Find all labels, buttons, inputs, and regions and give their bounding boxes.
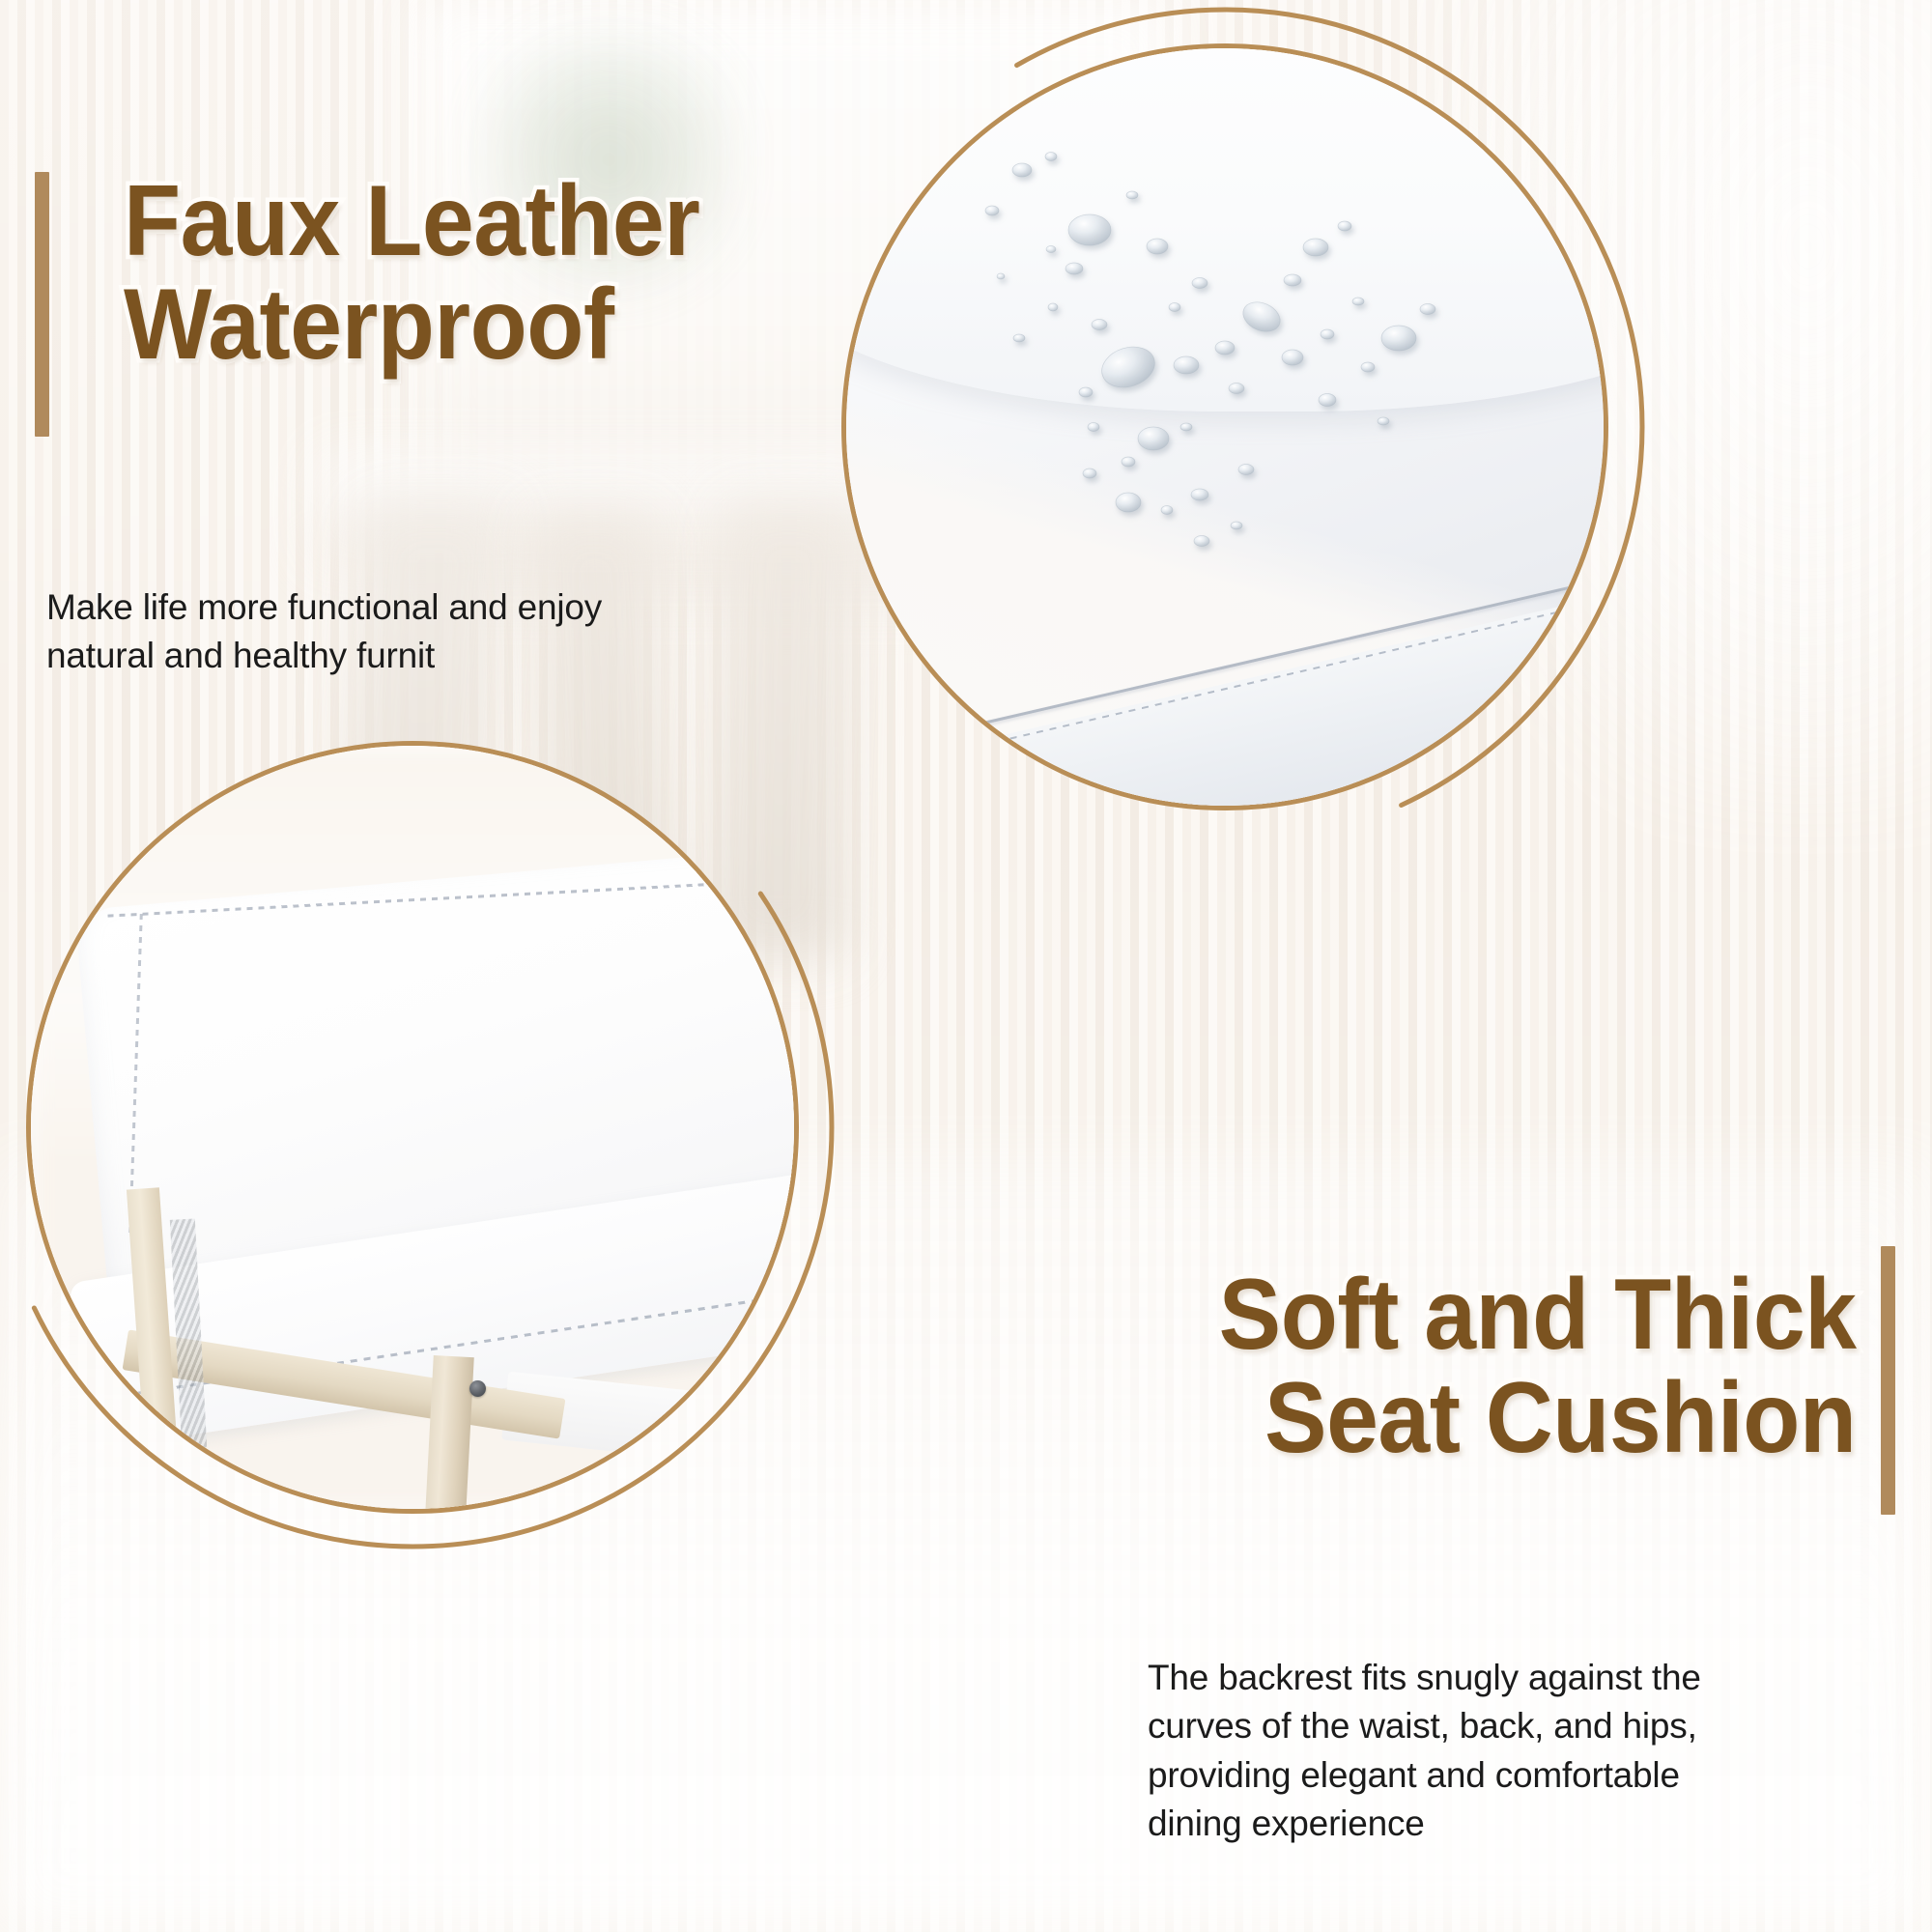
headline-line-2: Waterproof [124,273,699,377]
body-copy-bottom-right: The backrest fits snugly against the cur… [1148,1654,1766,1848]
headline-faux-leather-waterproof: Faux Leather Waterproof [124,170,699,377]
seat-cushion-photo [31,746,794,1509]
headline-line-2: Seat Cushion [1219,1367,1857,1470]
headline-line-1: Soft and Thick [1219,1264,1857,1367]
body-copy-top-left: Make life more functional and enjoy natu… [46,583,645,681]
headline-soft-and-thick-seat-cushion: Soft and Thick Seat Cushion [1219,1264,1857,1470]
accent-bar-left [35,172,49,437]
product-feature-banner: Faux Leather Waterproof Make life more f… [0,0,1932,1932]
headline-line-1: Faux Leather [124,170,699,273]
accent-bar-right [1881,1246,1895,1515]
photo-content [31,746,794,1509]
